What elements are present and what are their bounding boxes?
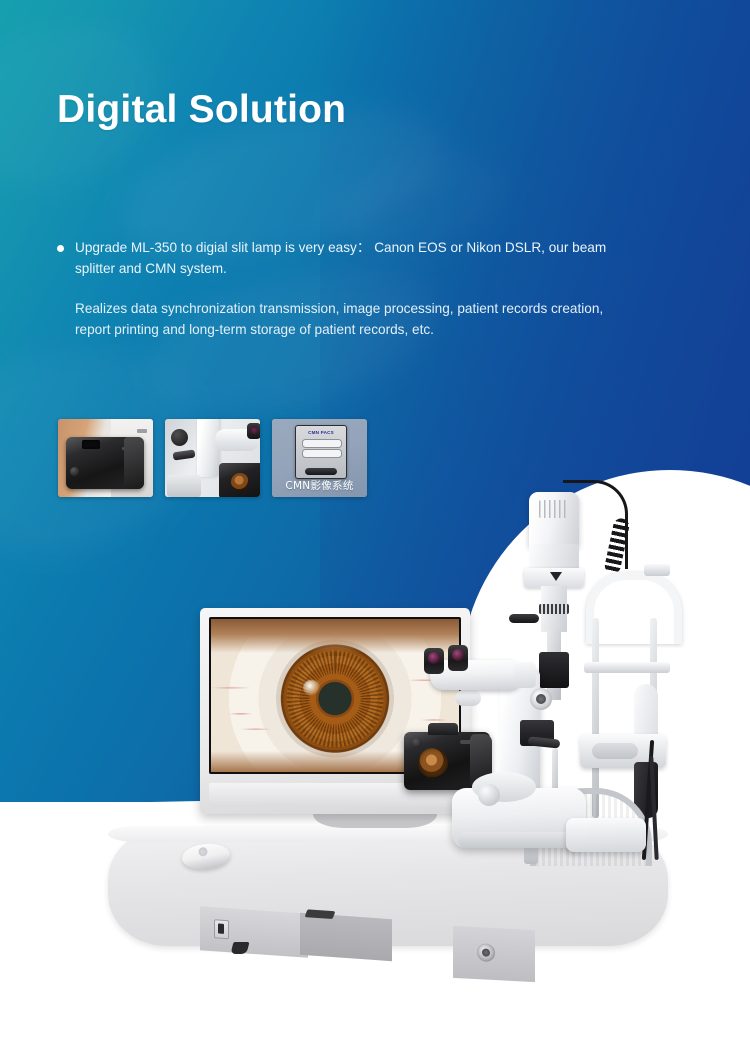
height-adjust-knob-icon bbox=[477, 943, 495, 962]
table-control-panel bbox=[200, 906, 308, 958]
bullet-list: Upgrade ML-350 to digial slit lamp is ve… bbox=[57, 238, 637, 279]
thumbnail-cmn-pacs-software[interactable]: CMN PACS CMN影像系统 bbox=[272, 419, 367, 497]
camera-pentaprism bbox=[428, 723, 458, 735]
table-under-panel bbox=[300, 913, 392, 961]
eyepiece-icon bbox=[448, 645, 468, 671]
bullet-text: Upgrade ML-350 to digial slit lamp is ve… bbox=[75, 238, 637, 279]
list-item: Upgrade ML-350 to digial slit lamp is ve… bbox=[57, 238, 637, 279]
microscope-column bbox=[197, 419, 219, 477]
camera-grip bbox=[124, 437, 144, 489]
slit-lever bbox=[509, 614, 539, 623]
binocular-microscope bbox=[418, 648, 536, 698]
mirror-prism-icon bbox=[550, 572, 562, 581]
slit-aperture-block bbox=[539, 652, 569, 688]
corneal-reflection bbox=[303, 680, 320, 695]
thumbnail-beam-splitter[interactable] bbox=[165, 419, 260, 497]
dslr-camera-icon bbox=[219, 463, 260, 497]
secondary-base bbox=[566, 818, 646, 852]
forehead-band bbox=[584, 662, 670, 673]
slide-page: Digital Solution Upgrade ML-350 to digia… bbox=[0, 0, 750, 1060]
power-switch-icon bbox=[214, 919, 229, 939]
pacs-login-window: CMN PACS bbox=[295, 425, 347, 479]
product-photo bbox=[0, 560, 750, 1060]
viewfinder bbox=[82, 440, 100, 449]
pacs-logo-text: CMN PACS bbox=[296, 430, 346, 435]
base-plate bbox=[458, 832, 580, 848]
camera-lens bbox=[231, 473, 249, 491]
headrest-arch bbox=[586, 572, 682, 644]
thumbnail-dslr-camera-back[interactable] bbox=[58, 419, 153, 497]
pacs-username-field bbox=[302, 439, 342, 448]
camera-lens bbox=[418, 748, 448, 778]
thumbnail-caption: CMN影像系统 bbox=[272, 478, 367, 493]
bullet-dot-icon bbox=[57, 245, 64, 252]
table-side-panel bbox=[453, 926, 535, 982]
camera-lcd-eye-preview bbox=[85, 452, 117, 480]
description-paragraph: Realizes data synchronization transmissi… bbox=[75, 299, 640, 340]
joystick-knob-icon bbox=[478, 784, 500, 806]
page-title: Digital Solution bbox=[57, 88, 346, 132]
pacs-password-field bbox=[302, 449, 342, 458]
dslr-camera-icon bbox=[66, 437, 144, 489]
pacs-keypad-area bbox=[304, 459, 338, 466]
eyepiece-icon bbox=[247, 423, 260, 439]
focus-knob-icon bbox=[171, 429, 188, 446]
camera-mode-dial bbox=[412, 738, 422, 748]
thumbnail-row: CMN PACS CMN影像系统 bbox=[58, 419, 367, 497]
frame-cap bbox=[644, 564, 670, 576]
illumination-tower bbox=[523, 492, 585, 642]
slit-width-dial bbox=[539, 604, 569, 614]
pacs-login-button bbox=[305, 468, 337, 475]
eyepiece-icon bbox=[424, 648, 444, 674]
beam-splitter-arm bbox=[514, 662, 536, 688]
camera-dial bbox=[70, 467, 79, 476]
microscope-base bbox=[167, 475, 201, 497]
